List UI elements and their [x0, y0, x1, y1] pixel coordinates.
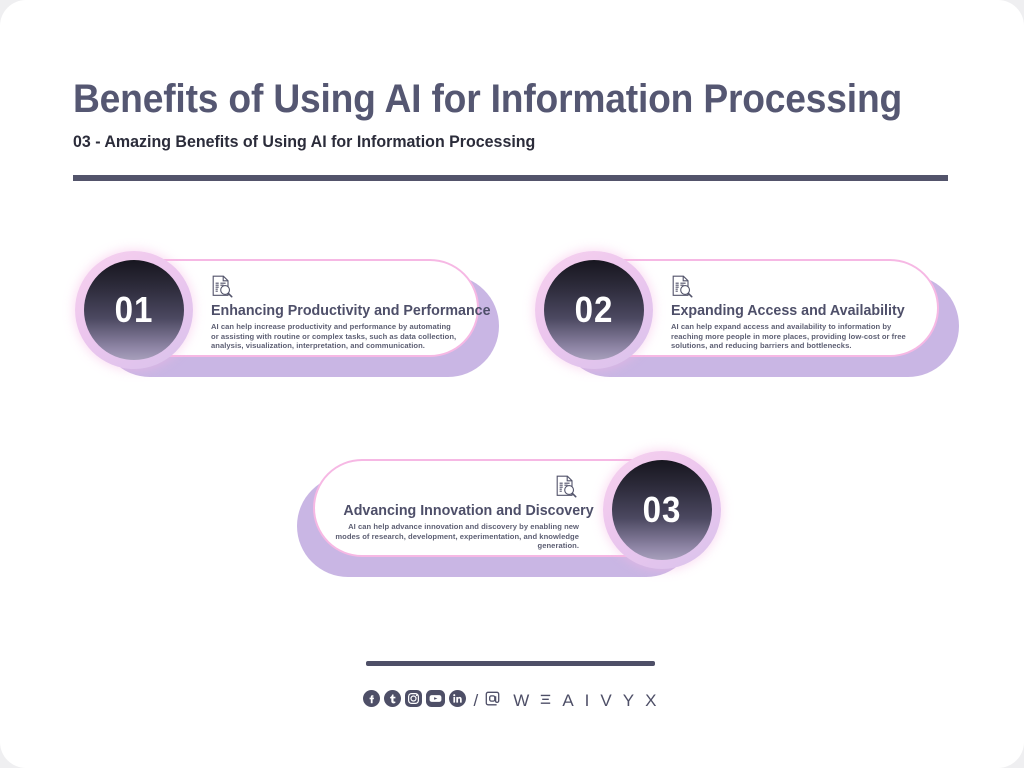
- brand-handle: W A I V Y X: [485, 691, 661, 711]
- page-subtitle: 03 - Amazing Benefits of Using AI for In…: [73, 132, 900, 152]
- card-description: AI can help advance innovation and disco…: [331, 522, 579, 551]
- handle-letter-x: X: [645, 691, 656, 711]
- card-description: AI can help expand access and availabili…: [671, 322, 919, 351]
- page-title: Benefits of Using AI for Information Pro…: [73, 76, 891, 122]
- footer-separator: /: [474, 691, 479, 711]
- instagram-icon[interactable]: [405, 690, 422, 712]
- at-symbol-icon: [485, 691, 500, 711]
- card-number-badge: 02: [535, 251, 653, 369]
- card-title: Expanding Access and Availability: [671, 302, 907, 319]
- linkedin-icon[interactable]: [449, 690, 466, 712]
- card-number-badge: 03: [603, 451, 721, 569]
- card-title: Enhancing Productivity and Performance: [211, 302, 447, 319]
- card-number-label: 02: [575, 289, 614, 331]
- youtube-icon[interactable]: [426, 690, 445, 712]
- benefit-card-01[interactable]: 01 Enhancing: [83, 259, 483, 361]
- tumblr-icon[interactable]: [384, 690, 401, 712]
- benefit-card-02[interactable]: 02 Expanding: [543, 259, 943, 361]
- card-description: AI can help increase productivity and pe…: [211, 322, 459, 351]
- slide-header: Benefits of Using AI for Information Pro…: [73, 76, 953, 152]
- card-title: Advancing Innovation and Discovery: [343, 502, 579, 519]
- social-icon-row: [363, 690, 466, 712]
- document-search-icon: [331, 475, 579, 501]
- handle-letter-w: W: [513, 691, 529, 711]
- card-number-label: 03: [643, 489, 682, 531]
- facebook-icon[interactable]: [363, 690, 380, 712]
- footer-divider: [366, 661, 655, 666]
- footer-bar: / W A I V Y: [0, 690, 1024, 712]
- slide-canvas: Benefits of Using AI for Information Pro…: [0, 0, 1024, 768]
- document-search-icon: [211, 275, 459, 301]
- handle-letter-e: [540, 691, 551, 711]
- handle-letter-y: Y: [623, 691, 634, 711]
- handle-letter-a: A: [562, 691, 573, 711]
- handle-letter-v: V: [600, 691, 611, 711]
- header-divider: [73, 175, 948, 181]
- benefit-card-03[interactable]: 03 Advancing: [313, 459, 713, 561]
- document-search-icon: [671, 275, 919, 301]
- handle-letter-i: I: [585, 691, 590, 711]
- card-number-label: 01: [115, 289, 154, 331]
- card-number-badge: 01: [75, 251, 193, 369]
